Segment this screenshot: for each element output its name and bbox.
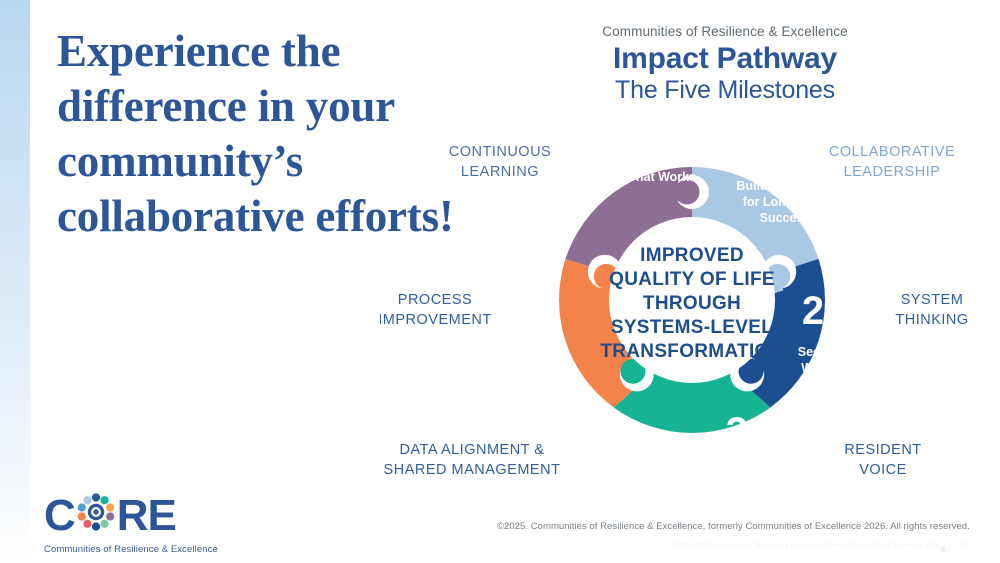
left-edge-gradient-strip — [0, 0, 30, 563]
outer-label-2-line-1: THINKING — [895, 312, 968, 328]
outer-label-5-line-0: PROCESS — [398, 292, 472, 308]
core-logo-puzzle-ring-icon — [76, 492, 116, 540]
segment-4-line-1: Plan Into — [508, 315, 561, 329]
segment-5-line-2: Scale What Works — [588, 170, 696, 184]
outer-label-4-line-0: DATA ALIGNMENT & — [400, 442, 545, 458]
outer-label-4-line-1: SHARED MANAGEMENT — [384, 462, 561, 478]
segment-3-number: 3 — [726, 410, 748, 454]
outer-label-cl-line-0: CONTINUOUS — [449, 144, 551, 160]
faint-footer-note: © 2020-2025 Communities of Resilience & … — [672, 543, 939, 549]
center-line-0: IMPROVED — [640, 245, 744, 266]
segment-1-number: 1 — [719, 135, 741, 179]
segment-1-line-1: for Long-Term — [743, 195, 827, 209]
center-line-3: SYSTEMS-LEVEL — [611, 317, 773, 338]
segment-5-line-0: Sustain, — [618, 138, 667, 152]
segment-2-line-2: Picture — [799, 377, 841, 391]
outer-label-data-alignment: DATA ALIGNMENT & SHARED MANAGEMENT — [384, 442, 561, 478]
outer-label-5-line-1: IMPROVEMENT — [380, 312, 492, 328]
segment-4-line-2: Practice — [510, 331, 559, 345]
outer-label-3-line-0: RESIDENT — [844, 442, 921, 458]
core-logo-letter-c: C — [44, 494, 75, 538]
core-logo: C RE Communities of Resilience & Excelle… — [44, 492, 244, 555]
impact-pathway-diagram: IMPROVED QUALITY OF LIFE THROUGH SYSTEMS… — [380, 110, 1000, 505]
center-line-2: THROUGH — [643, 293, 741, 314]
segment-3-text: Plan for Impact — [649, 432, 696, 462]
segment-5-number: 5 — [554, 185, 576, 229]
page-number: 9 — [963, 542, 967, 549]
core-logo-mark: C RE — [44, 492, 244, 540]
segment-3-line-0: Plan for — [649, 432, 696, 446]
outer-label-1-line-0: COLLABORATIVE — [829, 144, 955, 160]
outer-label-continuous-learning: CONTINUOUS LEARNING — [449, 144, 551, 180]
center-line-1: QUALITY OF LIFE — [609, 269, 775, 290]
segment-2-line-0: See the — [798, 345, 843, 359]
page-title: Impact Pathway — [560, 42, 890, 76]
segment-3-line-1: Impact — [652, 448, 693, 462]
page-subtitle: The Five Milestones — [560, 76, 890, 105]
segment-5-text: Sustain, Celebrate, & Scale What Works — [588, 138, 696, 184]
faint-footer-dot-icon — [940, 546, 946, 552]
segment-4-text: Put Your Plan Into Practice — [508, 299, 561, 345]
segment-1-line-0: Build Your Team — [736, 179, 833, 193]
outer-label-cl-line-1: LEARNING — [461, 164, 539, 180]
segment-2-number: 2 — [802, 289, 824, 333]
core-logo-tagline: Communities of Resilience & Excellence — [44, 544, 244, 555]
title-eyebrow: Communities of Resilience & Excellence — [560, 24, 890, 40]
segment-1-line-2: Success — [760, 211, 811, 225]
title-block: Communities of Resilience & Excellence I… — [560, 24, 890, 105]
segment-2-line-1: Whole — [801, 361, 839, 375]
outer-label-1-line-1: LEADERSHIP — [844, 164, 941, 180]
outer-label-process-improvement: PROCESS IMPROVEMENT — [380, 292, 492, 328]
outer-label-2-line-0: SYSTEM — [901, 292, 964, 308]
segment-4-line-0: Put Your — [509, 299, 560, 313]
outer-label-system-thinking: SYSTEM THINKING — [895, 292, 968, 328]
core-logo-letters-re: RE — [117, 494, 176, 538]
outer-label-collaborative-leadership: COLLABORATIVE LEADERSHIP — [829, 144, 955, 180]
segment-2-text: See the Whole Picture — [798, 345, 843, 391]
copyright-text: ©2025. Communities of Resilience & Excel… — [497, 521, 970, 532]
segment-5-line-1: Celebrate, & — [606, 154, 679, 168]
center-line-4: TRANSFORMATION — [600, 341, 783, 362]
outer-label-resident-voice: RESIDENT VOICE — [844, 442, 921, 478]
outer-label-3-line-1: VOICE — [859, 462, 907, 478]
segment-4-number: 4 — [558, 358, 581, 402]
